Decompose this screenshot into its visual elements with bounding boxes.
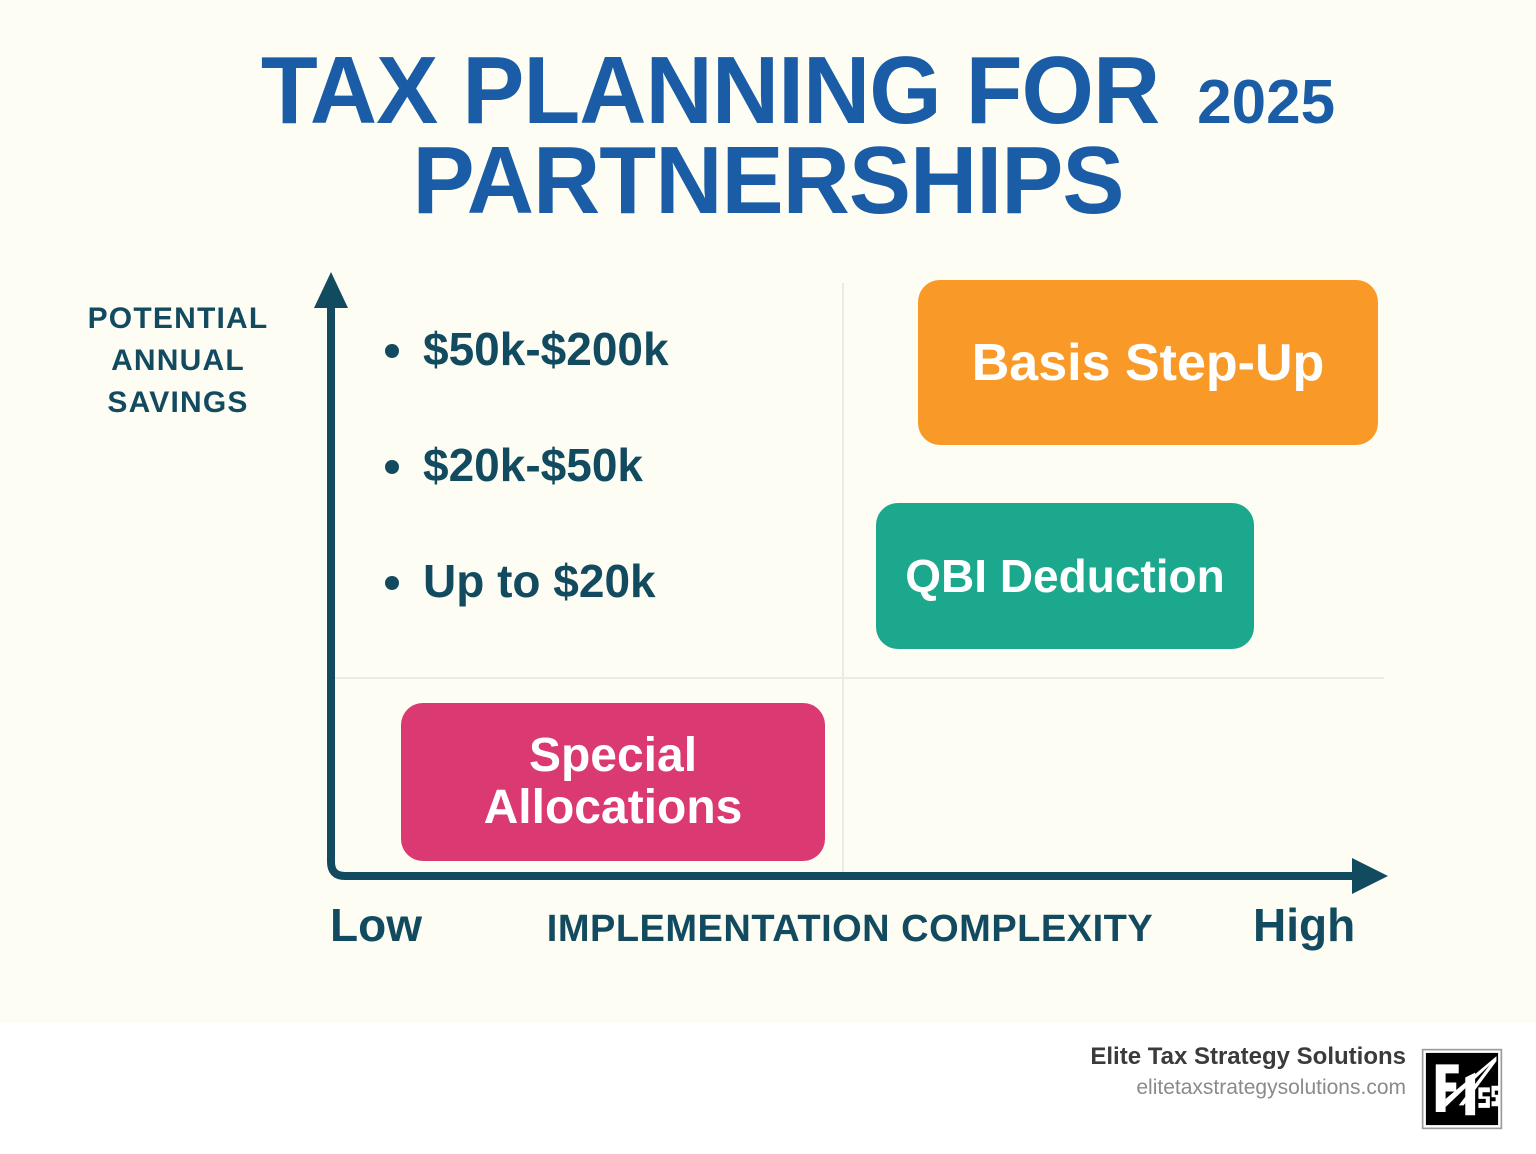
y-axis-label-line-3: SAVINGS — [52, 382, 304, 424]
strategy-card-basis-step-up[interactable]: Basis Step-Up — [918, 280, 1378, 445]
list-item: $50k-$200k — [375, 320, 815, 378]
title-year: 2025 — [1197, 68, 1335, 137]
savings-tier-label: Up to $20k — [423, 555, 656, 607]
strategy-card-qbi-deduction[interactable]: QBI Deduction — [876, 503, 1254, 649]
x-axis-label: IMPLEMENTATION COMPLEXITY — [470, 910, 1230, 948]
brand-text-block: Elite Tax Strategy Solutions elitetaxstr… — [1090, 1041, 1406, 1103]
x-axis-tick-high: High — [1253, 902, 1355, 948]
list-item: $20k-$50k — [375, 436, 815, 494]
bullet-dot-icon — [385, 460, 399, 474]
page-title: TAX PLANNING FOR2025 PARTNERSHIPS — [0, 48, 1536, 224]
list-item: Up to $20k — [375, 552, 815, 610]
strategy-card-label: Special Allocations — [484, 730, 743, 834]
savings-tier-label: $50k-$200k — [423, 323, 669, 375]
etss-logo-icon — [1421, 1048, 1503, 1130]
savings-tier-label: $20k-$50k — [423, 439, 643, 491]
x-axis-tick-low: Low — [330, 902, 422, 948]
y-axis-label-line-2: ANNUAL — [52, 340, 304, 382]
strategy-card-label: Basis Step-Up — [972, 334, 1325, 392]
bullet-dot-icon — [385, 344, 399, 358]
bullet-dot-icon — [385, 576, 399, 590]
quadrant-divider-vertical — [842, 283, 844, 875]
title-line-1-row: TAX PLANNING FOR2025 — [0, 48, 1536, 138]
infographic-slide: TAX PLANNING FOR2025 PARTNERSHIPS POTENT… — [0, 0, 1536, 1154]
strategy-card-special-allocations[interactable]: Special Allocations — [401, 703, 825, 861]
title-line-1: TAX PLANNING FOR — [261, 48, 1159, 134]
y-axis-label-line-1: POTENTIAL — [52, 298, 304, 340]
quadrant-divider-horizontal — [332, 677, 1384, 679]
brand-url[interactable]: elitetaxstrategysolutions.com — [1090, 1073, 1406, 1103]
y-axis-label: POTENTIAL ANNUAL SAVINGS — [52, 298, 304, 424]
footer-bar: Elite Tax Strategy Solutions elitetaxstr… — [0, 1023, 1536, 1154]
title-line-2: PARTNERSHIPS — [23, 138, 1513, 224]
strategy-card-label: QBI Deduction — [905, 550, 1224, 602]
savings-tier-list: $50k-$200k $20k-$50k Up to $20k — [375, 320, 815, 668]
brand-name: Elite Tax Strategy Solutions — [1090, 1041, 1406, 1073]
